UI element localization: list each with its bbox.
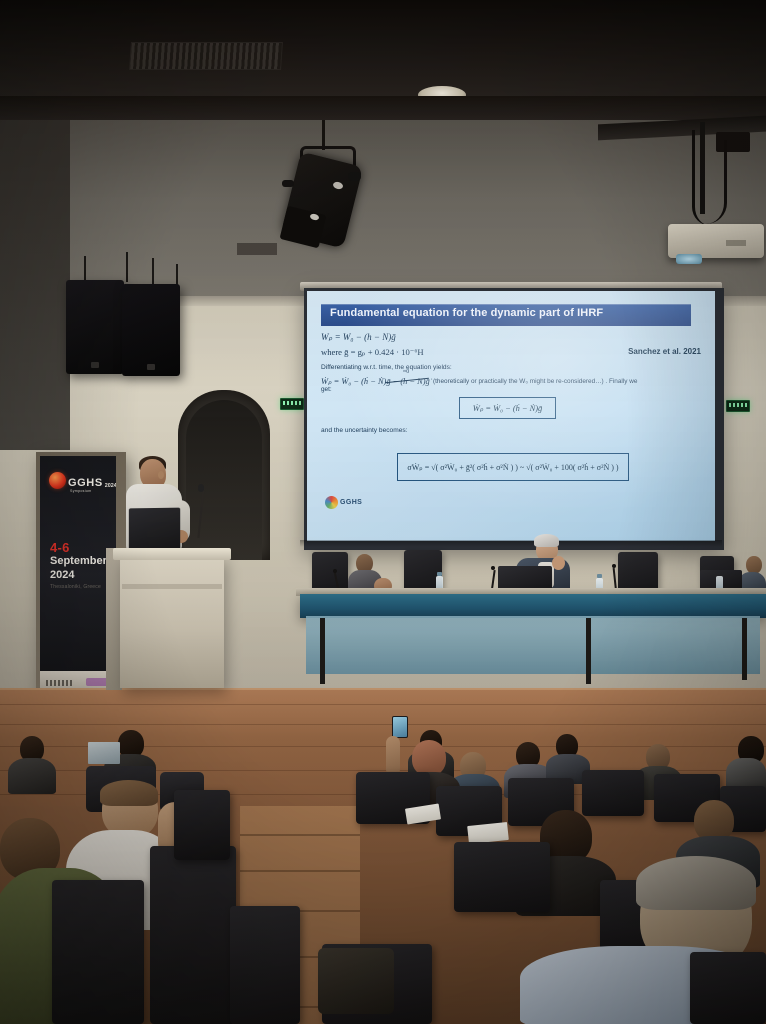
slide-equation-3: Ẇₚ = Ẇ₀ − (ḣ − Ṅ)ḡ − (h − N)ḡ̇ [321, 376, 430, 386]
table-leg [586, 618, 591, 684]
banner-dates: 4-6 [50, 540, 70, 555]
auditorium-seat[interactable] [150, 846, 236, 1024]
ceiling-projector-icon [668, 224, 764, 258]
table-leg [320, 618, 325, 684]
banner-logo-year: 2024 [105, 484, 116, 489]
presenter-ear [158, 471, 164, 479]
slide-line-differentiating: Differentiating w.r.t. time, the equatio… [321, 364, 452, 371]
speaker-chain [84, 256, 86, 282]
slide-footer-logo: GGHS [325, 496, 362, 509]
auditorium-seat[interactable] [230, 906, 300, 1024]
podium-top [113, 548, 231, 560]
panel-table-skirt [306, 616, 760, 674]
left-wall-shadow [0, 120, 70, 450]
auditorium-seat[interactable] [690, 952, 766, 1024]
globe-icon [325, 496, 338, 509]
screen-drop-shadow [300, 540, 722, 547]
rollup-banner: GGHS 2024 Symposium 4-6 September 2024 T… [40, 456, 116, 671]
spotlight-knob [282, 180, 294, 187]
exit-sign-icon [726, 400, 750, 412]
approx-zero-annotation: ≈0 [403, 369, 409, 375]
microphone-head-icon [198, 484, 204, 492]
bag-on-floor [318, 948, 394, 1014]
auditorium-seat[interactable] [454, 842, 550, 912]
banner-logo-text: GGHS [68, 477, 103, 489]
exit-sign-icon [280, 398, 304, 410]
ceiling-beam [0, 96, 766, 122]
banner-logo: GGHS 2024 [49, 472, 116, 489]
microphone-head-icon [612, 564, 616, 568]
banner-month: September [50, 555, 107, 567]
slide-title-bar: Fundamental equation for the dynamic par… [321, 304, 691, 326]
presentation-slide: Fundamental equation for the dynamic par… [307, 291, 715, 541]
microphone-head-icon [333, 569, 337, 573]
attendee-head [412, 740, 446, 776]
slide-get-word: get: [321, 386, 332, 393]
panelist-hair [534, 534, 559, 547]
auditorium-seat[interactable] [52, 880, 144, 1024]
bottle-cap [437, 572, 442, 576]
speaker-chain [126, 252, 128, 282]
table-leg [742, 618, 747, 680]
sponsor-logo-icon [46, 680, 72, 686]
slide-boxed-equation-1: Ẇₚ = Ẇ₀ − (ḣ − Ṅ)ḡ [459, 397, 556, 419]
podium-laptop [129, 508, 180, 551]
speaker-chain [152, 258, 154, 284]
auditorium-photo: Fundamental equation for the dynamic par… [0, 0, 766, 1024]
auditorium-seat[interactable] [582, 770, 644, 816]
attendee-body [8, 758, 56, 794]
spotlight-knob [348, 172, 361, 181]
slide-citation: Sanchez et al. 2021 [628, 347, 701, 356]
projector-brand-label [726, 240, 746, 246]
panelist-hand [552, 556, 565, 570]
attendee-hair [100, 780, 158, 806]
ceiling-vent [129, 42, 283, 70]
slide-logo-text: GGHS [340, 499, 362, 506]
microphone-head-icon [491, 566, 495, 570]
speaker-chain [176, 264, 178, 286]
sponsor-logo-icon [86, 678, 108, 686]
attendee-raised-arm [386, 736, 400, 776]
projector-cable [706, 140, 727, 224]
slide-parenthetical-note: (theoretically or practically the W₀ mig… [433, 378, 637, 385]
bottle-cap [597, 574, 602, 578]
attendee-laptop [88, 742, 120, 764]
podium [120, 556, 224, 688]
slide-equation-2: where ḡ = gₚ + 0.424 · 10⁻⁶H [321, 347, 424, 358]
hanging-loudspeaker-icon [122, 284, 180, 376]
auditorium-seat[interactable] [174, 790, 230, 860]
projector-lens [676, 254, 702, 264]
panel-table [300, 594, 766, 618]
hanging-loudspeaker-icon [66, 280, 124, 374]
ceiling-panel [237, 243, 277, 255]
podium-trim [122, 584, 222, 589]
slide-line-uncertainty: and the uncertainty becomes: [321, 427, 408, 434]
slide-boxed-equation-2: σẆₚ = √( σ²Ẇ₀ + ḡ²( σ²ḣ + σ²Ṅ ) ) ~ √( σ… [397, 453, 629, 481]
globe-icon [49, 472, 66, 489]
banner-year: 2024 [50, 569, 74, 581]
banner-subtitle: Symposium [70, 489, 91, 493]
slide-title: Fundamental equation for the dynamic par… [330, 307, 603, 319]
slide-equation-1: Wₚ = W₀ − (h − N)ḡ [321, 332, 396, 343]
banner-city: Thessaloniki, Greece [50, 584, 101, 590]
attendee-hair [636, 856, 756, 910]
smartphone-icon[interactable] [392, 716, 408, 738]
